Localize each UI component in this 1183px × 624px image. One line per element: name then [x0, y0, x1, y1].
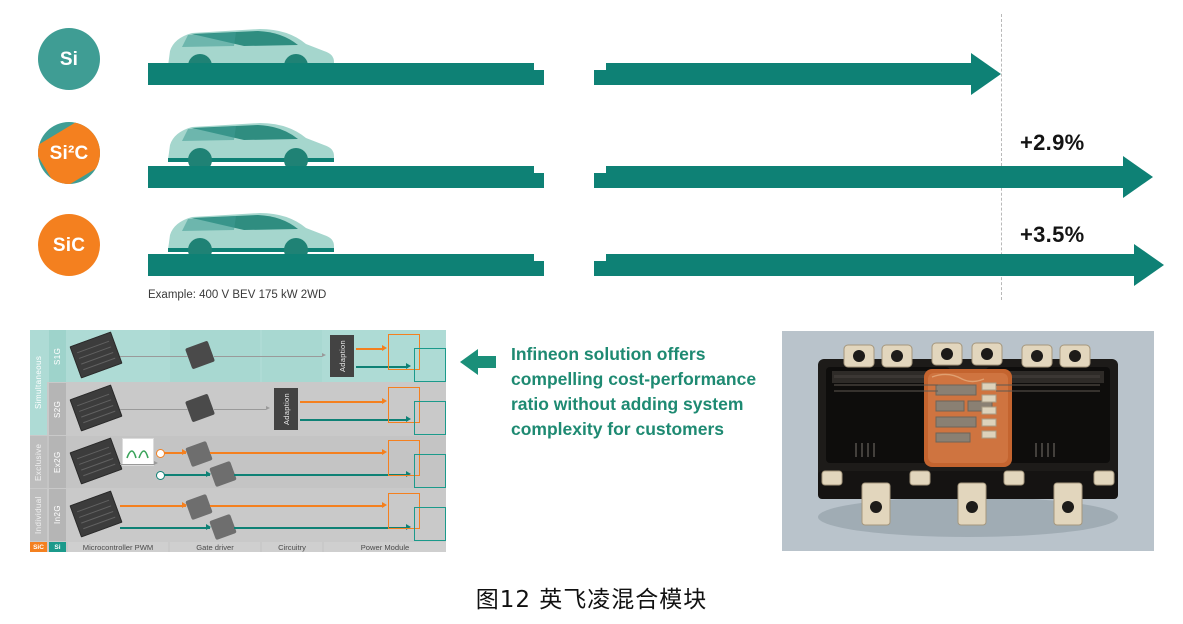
arrow-row3-segment-right-notch: [594, 254, 606, 261]
architecture-matrix: Simultaneous Exclusive Individual S1G S2…: [30, 330, 446, 552]
row-label-s2g: S2G: [49, 383, 66, 435]
example-note: Example: 400 V BEV 175 kW 2WD: [148, 289, 326, 301]
callout-arrow-icon: [460, 349, 478, 375]
group-label-exclusive: Exclusive: [30, 436, 47, 488]
badge-si: Si: [38, 28, 100, 90]
badge-sic-label: SiC: [53, 236, 85, 255]
signal-row3-teal-in: [164, 474, 210, 476]
arrow-row2-segment-left: [148, 166, 544, 188]
arrow-row1-segment-left-notch: [534, 63, 546, 70]
arrow-row2-head: [1123, 156, 1153, 198]
arrow-row2-segment-left-notch: [534, 166, 546, 173]
row-label-s1g: S1G: [49, 330, 66, 382]
arrowhead-row1-to-adapt: [322, 353, 326, 357]
arrow-row3-segment-right: [594, 254, 1134, 276]
si-switch-row3: [414, 454, 446, 488]
arrowhead-row4-teal-in: [206, 524, 211, 530]
adaption-label-row2: Adaption: [282, 393, 291, 425]
arrowhead-row3-orange-out: [382, 449, 387, 455]
callout-text: Infineon solution offers compelling cost…: [511, 342, 761, 441]
si-switch-row2: [414, 401, 446, 435]
group-label-simultaneous: Simultaneous: [30, 330, 47, 435]
car-icon-row-2: [148, 112, 338, 174]
column-header-gate-driver-label: Gate driver: [196, 543, 234, 552]
delta-label-row2: +2.9%: [1020, 130, 1085, 156]
signal-row1-mcu-to-gd: [120, 356, 188, 357]
pwm-waveform-icon: [123, 439, 153, 465]
signal-row4-teal-in: [120, 527, 210, 529]
badge-si2c-label: Si²C: [50, 144, 89, 163]
row-label-ex2g: Ex2G: [49, 436, 66, 488]
arrow-row2-segment-right: [594, 166, 1123, 188]
figure-root: Si Si²C SiC: [0, 0, 1183, 624]
column-header-circuitry-label: Circuitry: [278, 543, 306, 552]
legend-badge-si: Si: [49, 542, 66, 552]
signal-row1-gd-to-adapt: [214, 356, 322, 357]
arrowhead-row2-orange: [382, 398, 387, 404]
arrowhead-row1-orange: [382, 345, 387, 351]
arrow-row1-segment-right: [594, 63, 971, 85]
si-switch-row4: [414, 507, 446, 541]
adaption-block-row1: Adaption: [330, 335, 354, 377]
arrow-row1-segment-left: [148, 63, 544, 85]
column-header-power-module: Power Module: [324, 542, 446, 552]
signal-row2-mcu-to-gd: [120, 409, 188, 410]
arrow-row2-segment-right-notch: [594, 166, 606, 173]
legend-badge-sic-label: SiC: [33, 544, 44, 551]
column-header-microcontroller-label: Microcontroller PWM: [83, 543, 153, 552]
legend-badge-si-label: Si: [54, 544, 60, 551]
arrow-row1-segment-right-notch: [594, 63, 606, 70]
arrow-row3-segment-left: [148, 254, 544, 276]
signal-row4-orange-in: [120, 505, 186, 507]
figure-caption: 图12 英飞凌混合模块: [0, 580, 1183, 614]
signal-row1-orange: [356, 348, 384, 350]
column-header-gate-driver: Gate driver: [170, 542, 260, 552]
group-label-individual: Individual: [30, 489, 47, 541]
signal-row3-mcu-branch: [120, 464, 154, 465]
arrowhead-row2-to-adapt: [266, 406, 270, 410]
si-switch-row1: [414, 348, 446, 382]
badge-si2c: Si²C: [38, 122, 100, 184]
power-module-photo: [782, 331, 1154, 551]
column-header-circuitry: Circuitry: [262, 542, 322, 552]
arrow-row1-head: [971, 53, 1001, 95]
arrowhead-row3-orange-in: [182, 449, 187, 455]
callout-arrow-tail: [478, 356, 496, 368]
adaption-label-row1: Adaption: [338, 340, 347, 372]
signal-row2-gd-to-adapt: [214, 409, 266, 410]
arrowhead-row4-orange-in: [182, 502, 187, 508]
legend-badge-sic: SiC: [30, 542, 47, 552]
signal-row3-teal-out: [234, 474, 408, 476]
signal-row4-teal-out: [234, 527, 408, 529]
column-header-microcontroller: Microcontroller PWM: [68, 542, 168, 552]
power-module-image: [782, 331, 1154, 551]
arrow-row3-segment-left-notch: [534, 254, 546, 261]
column-header-power-module-label: Power Module: [361, 543, 410, 552]
arrowhead-row3-branch: [154, 461, 158, 465]
badge-sic: SiC: [38, 214, 100, 276]
arrowhead-row3-teal-in: [206, 471, 211, 477]
delta-label-row3: +3.5%: [1020, 222, 1085, 248]
badge-si-label: Si: [60, 50, 78, 69]
adaption-block-row2: Adaption: [274, 388, 298, 430]
pwm-waveform-box: [122, 438, 154, 466]
signal-row4-orange-out: [210, 505, 384, 507]
arrowhead-row4-orange-out: [382, 502, 387, 508]
arrow-row3-head: [1134, 244, 1164, 286]
signal-row3-orange-out: [210, 452, 384, 454]
row-label-in2g: In2G: [49, 489, 66, 541]
signal-row2-orange: [300, 401, 384, 403]
